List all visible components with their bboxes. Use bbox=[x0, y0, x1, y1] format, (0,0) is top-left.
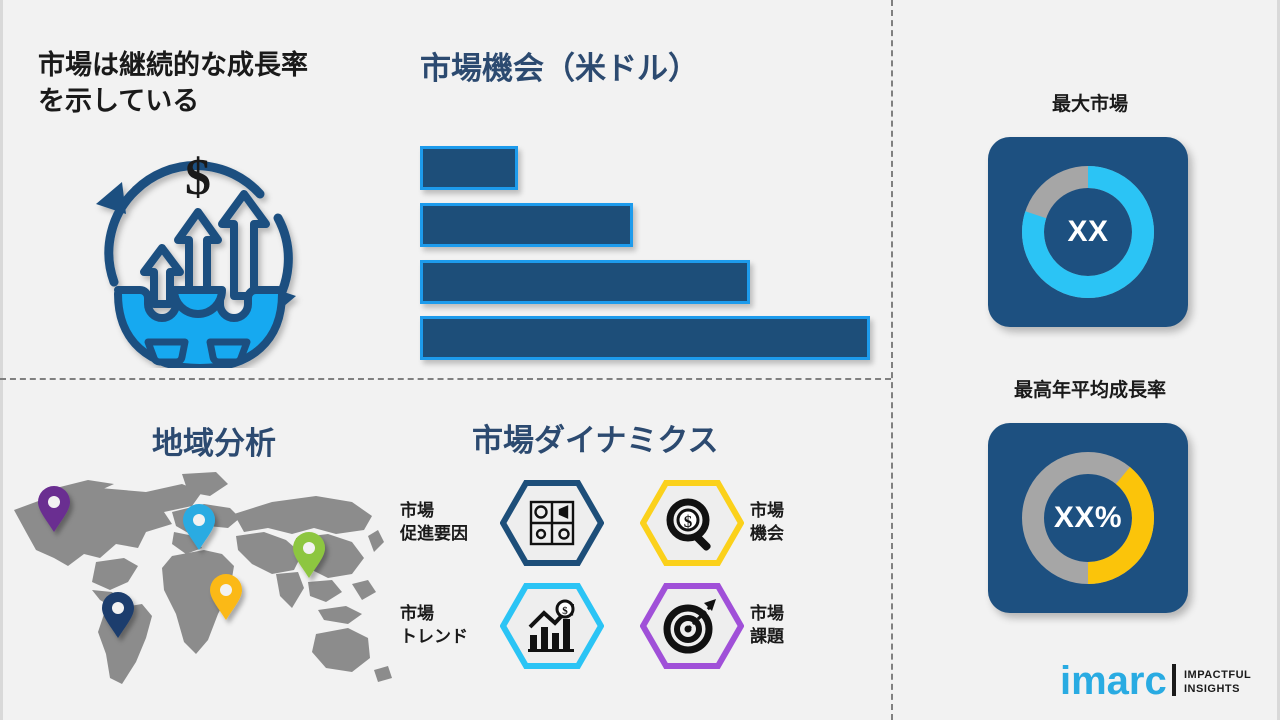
svg-text:$: $ bbox=[562, 605, 568, 617]
dynamics-label-trends: 市場 トレンド bbox=[400, 603, 496, 649]
svg-text:$: $ bbox=[684, 512, 693, 531]
pin-europe[interactable] bbox=[183, 504, 215, 550]
largest-market-value: XX bbox=[988, 215, 1188, 249]
market-opportunity-title: 市場機会（米ドル） bbox=[420, 50, 880, 87]
bar-item bbox=[420, 203, 633, 247]
pin-north-america[interactable] bbox=[38, 486, 70, 532]
growth-cycle-gear-icon: $ bbox=[74, 132, 318, 368]
largest-market-label: 最大市場 bbox=[940, 92, 1240, 117]
horizontal-divider bbox=[0, 378, 891, 380]
hex-opportunities: $ bbox=[640, 480, 744, 566]
world-map bbox=[0, 462, 396, 700]
bar-item bbox=[420, 316, 870, 360]
hex-challenges bbox=[640, 583, 744, 669]
vertical-divider bbox=[891, 0, 893, 720]
dynamics-item-opportunities[interactable]: $ 市場 機会 bbox=[640, 480, 784, 566]
bar-item bbox=[420, 260, 750, 304]
logo-divider-rule bbox=[1172, 664, 1176, 696]
pin-east-asia[interactable] bbox=[293, 532, 325, 578]
market-dynamics-grid: 市場 促進要因 bbox=[400, 480, 840, 660]
market-dynamics-title: 市場ダイナミクス bbox=[472, 422, 718, 459]
dynamics-item-trends[interactable]: 市場 トレンド $ bbox=[400, 583, 604, 669]
regional-analysis-title: 地域分析 bbox=[152, 425, 276, 462]
map-pin-layer bbox=[0, 462, 396, 700]
imarc-logo: imarc IMPACTFUL INSIGHTS bbox=[1060, 658, 1260, 704]
pin-south-america[interactable] bbox=[102, 592, 134, 638]
bar-item bbox=[420, 146, 518, 190]
largest-market-donut-card: XX bbox=[988, 137, 1188, 327]
imarc-tagline-line2: INSIGHTS bbox=[1184, 683, 1240, 695]
imarc-wordmark: imarc bbox=[1060, 659, 1167, 703]
slide-canvas: 市場は継続的な成長率 を示している bbox=[0, 0, 1280, 720]
dynamics-label-challenges: 市場 課題 bbox=[750, 603, 784, 649]
svg-text:$: $ bbox=[185, 149, 211, 206]
highest-cagr-value: XX% bbox=[988, 501, 1188, 535]
highest-cagr-donut-card: XX% bbox=[988, 423, 1188, 613]
dynamics-item-challenges[interactable]: 市場 課題 bbox=[640, 583, 784, 669]
hex-trends: $ bbox=[500, 583, 604, 669]
pin-middle-east[interactable] bbox=[210, 574, 242, 620]
market-opportunity-bar-chart bbox=[420, 146, 880, 350]
highest-cagr-label: 最高年平均成長率 bbox=[940, 378, 1240, 403]
growth-statement-title: 市場は継続的な成長率 を示している bbox=[38, 48, 388, 119]
hex-drivers bbox=[500, 480, 604, 566]
dynamics-label-opportunities: 市場 機会 bbox=[750, 500, 784, 546]
imarc-tagline-line1: IMPACTFUL bbox=[1184, 669, 1251, 681]
dynamics-label-drivers: 市場 促進要因 bbox=[400, 500, 496, 546]
dynamics-item-drivers[interactable]: 市場 促進要因 bbox=[400, 480, 604, 566]
